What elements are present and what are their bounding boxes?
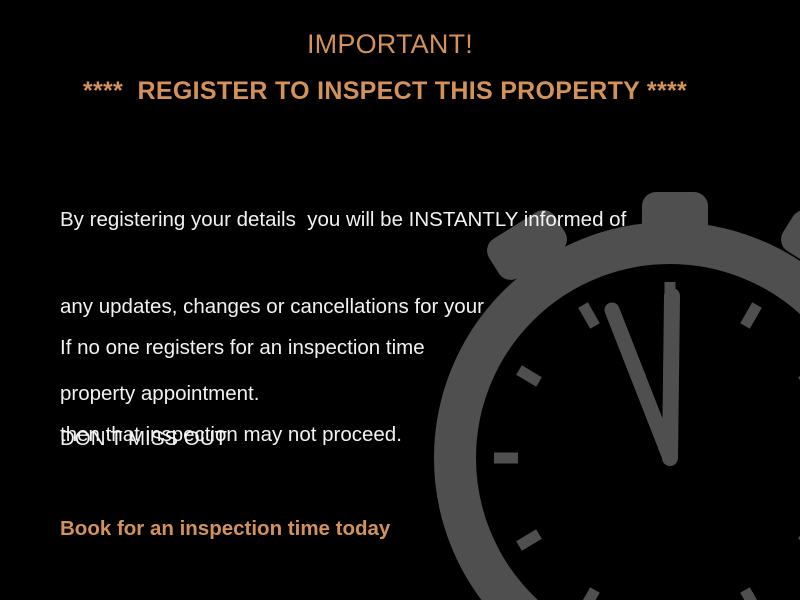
paragraph-no-registration-line-1: If no one registers for an inspection ti…	[60, 333, 425, 362]
text-layer: IMPORTANT! **** REGISTER TO INSPECT THIS…	[0, 0, 800, 600]
cta-dont-miss-out: DON’T MISS OUT	[60, 424, 390, 454]
page-title: IMPORTANT!	[0, 30, 780, 60]
page-subtitle: **** REGISTER TO INSPECT THIS PROPERTY *…	[0, 77, 770, 106]
cta-book-inspection: Book for an inspection time today	[60, 514, 390, 544]
paragraph-registering-line-1: By registering your details you will be …	[60, 205, 626, 234]
slide-canvas: IMPORTANT! **** REGISTER TO INSPECT THIS…	[0, 0, 800, 600]
call-to-action-block: DON’T MISS OUT Book for an inspection ti…	[60, 364, 390, 600]
